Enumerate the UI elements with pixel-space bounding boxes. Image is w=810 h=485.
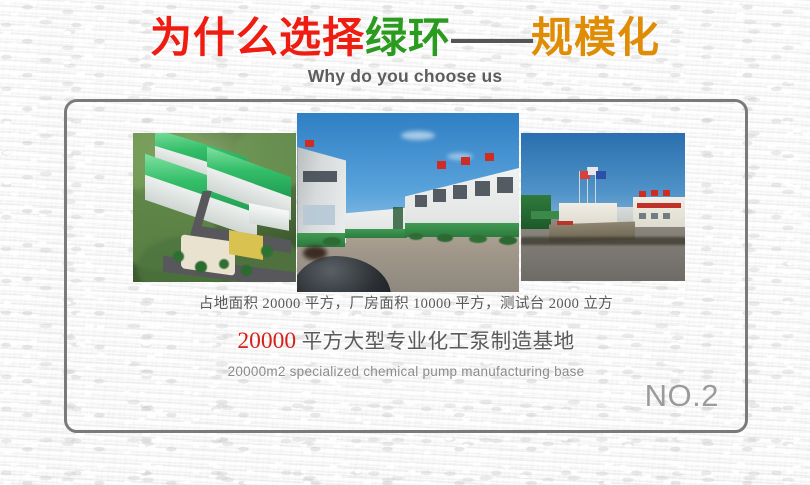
roof-sign: [639, 191, 646, 197]
roof-sign: [437, 161, 446, 169]
window: [433, 189, 446, 202]
shrub: [499, 236, 517, 245]
title-part-orange: 规模化: [531, 14, 660, 61]
window: [639, 213, 646, 219]
photo-strip: [67, 102, 745, 292]
building-name-sign: [637, 203, 681, 208]
roof-sign: [651, 190, 658, 196]
aerial-tree: [195, 261, 207, 273]
caption-block: 占地面积 20000 平方，厂房面积 10000 平方，测试台 2000 立方 …: [67, 292, 745, 379]
flag-blue: [596, 171, 606, 179]
aerial-tree: [261, 245, 273, 257]
caption-line-1: 占地面积 20000 平方，厂房面积 10000 平方，测试台 2000 立方: [67, 292, 745, 313]
cloud: [401, 131, 435, 140]
gate-office-building: [633, 197, 685, 227]
shrub: [437, 234, 453, 242]
roof-sign: [305, 140, 314, 147]
roof-sign: [485, 153, 494, 161]
window: [453, 185, 467, 199]
photo-factory-street: [297, 113, 519, 292]
caption-highlight-number: 20000: [237, 328, 296, 354]
caption-line-2: 20000 平方大型专业化工泵制造基地: [67, 324, 745, 355]
page-subtitle: Why do you choose us: [0, 66, 810, 87]
building-skirt: [345, 229, 407, 238]
street-building-near: [297, 147, 346, 243]
section-number-badge: NO.2: [645, 378, 719, 414]
shrub: [323, 237, 341, 246]
page-title: 为什么选择绿环——规模化: [0, 0, 810, 61]
photo-aerial-factory-rendering: [133, 133, 296, 282]
window: [475, 181, 490, 196]
fence-line: [521, 237, 685, 245]
window: [303, 205, 335, 225]
title-part-dash: ——: [451, 14, 531, 61]
aerial-tree: [219, 259, 229, 269]
title-part-green: 绿环: [365, 14, 451, 61]
shrub: [469, 235, 487, 243]
window: [497, 177, 513, 193]
roof-sign: [663, 190, 670, 196]
gate-sign-text: [557, 221, 573, 225]
shrub: [409, 233, 423, 240]
entrance-door: [393, 207, 403, 229]
aerial-tree: [173, 251, 184, 262]
window: [651, 213, 658, 219]
caption-line-3-english: 20000m2 specialized chemical pump manufa…: [67, 364, 745, 379]
title-part-red: 为什么选择: [150, 14, 365, 61]
caption-line-2-rest: 平方大型专业化工泵制造基地: [296, 331, 575, 353]
window: [303, 171, 337, 182]
aerial-tree: [241, 265, 252, 276]
photo-factory-gate: [521, 133, 685, 281]
window: [415, 195, 427, 207]
roof-sign: [461, 157, 470, 165]
header: 为什么选择绿环——规模化 Why do you choose us: [0, 0, 810, 87]
window: [663, 213, 670, 219]
content-frame: 占地面积 20000 平方，厂房面积 10000 平方，测试台 2000 立方 …: [64, 99, 748, 433]
page-background: 为什么选择绿环——规模化 Why do you choose us: [0, 0, 810, 485]
car-roof-shadow: [303, 246, 327, 260]
